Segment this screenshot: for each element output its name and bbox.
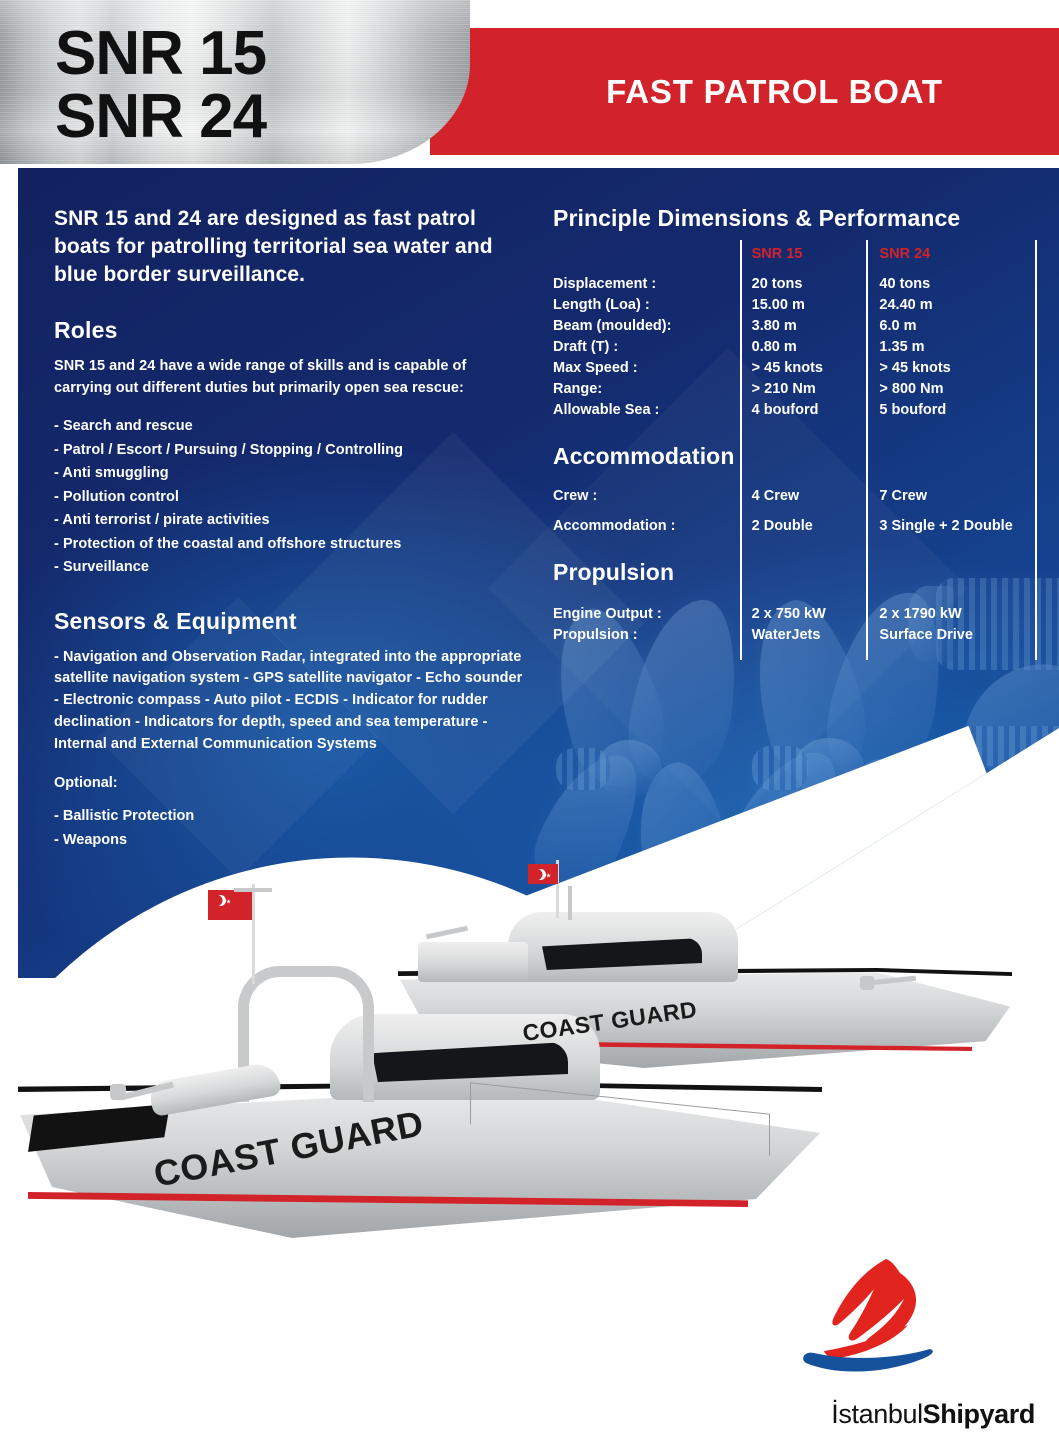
row-value-snr15: > 210 Nm bbox=[743, 379, 871, 400]
row-label: Propulsion : bbox=[553, 625, 743, 646]
shipyard-logo-mark bbox=[800, 1255, 950, 1380]
roles-heading: Roles bbox=[54, 317, 524, 344]
model-title-line1: SNR 15 bbox=[55, 22, 266, 85]
row-value-snr15: 15.00 m bbox=[743, 295, 871, 316]
model-titles: SNR 15 SNR 24 bbox=[55, 22, 266, 148]
table-row: Accommodation : 2 Double 3 Single + 2 Do… bbox=[553, 507, 1053, 537]
row-value-snr24: Surface Drive bbox=[870, 625, 1053, 646]
table-row: Range: > 210 Nm > 800 Nm bbox=[553, 379, 1053, 400]
table-row: Crew : 4 Crew 7 Crew bbox=[553, 486, 1053, 507]
company-logo: İstanbulShipyard bbox=[735, 1255, 1035, 1430]
list-item: - Patrol / Escort / Pursuing / Stopping … bbox=[54, 439, 524, 462]
list-item: - Search and rescue bbox=[54, 415, 524, 438]
propulsion-table: Engine Output : 2 x 750 kW 2 x 1790 kW P… bbox=[553, 604, 1053, 646]
row-value-snr15: > 45 knots bbox=[743, 358, 871, 379]
row-value-snr24: 5 bouford bbox=[870, 400, 1053, 421]
row-value-snr15: 0.80 m bbox=[743, 337, 871, 358]
table-row: Allowable Sea : 4 bouford 5 bouford bbox=[553, 400, 1053, 421]
page-header: FAST PATROL BOAT SNR 15 SNR 24 bbox=[0, 0, 1059, 168]
row-value-snr24: 2 x 1790 kW bbox=[870, 604, 1053, 625]
dimensions-heading: Principle Dimensions & Performance bbox=[553, 205, 1053, 232]
dimensions-table: SNR 15 SNR 24 Displacement : 20 tons 40 … bbox=[553, 232, 1053, 421]
row-value-snr24: 24.40 m bbox=[870, 295, 1053, 316]
specifications-column: Principle Dimensions & Performance SNR 1… bbox=[553, 205, 1053, 646]
row-label: Max Speed : bbox=[553, 358, 743, 379]
row-label: Crew : bbox=[553, 486, 743, 507]
table-row: Max Speed : > 45 knots > 45 knots bbox=[553, 358, 1053, 379]
accommodation-heading: Accommodation bbox=[553, 443, 1053, 470]
column-header-snr15: SNR 15 bbox=[743, 232, 871, 265]
table-row: Displacement : 20 tons 40 tons bbox=[553, 265, 1053, 295]
roles-intro: SNR 15 and 24 have a wide range of skill… bbox=[54, 356, 524, 400]
table-row: Length (Loa) : 15.00 m 24.40 m bbox=[553, 295, 1053, 316]
front-gun-mount bbox=[110, 1084, 126, 1100]
intro-paragraph: SNR 15 and 24 are designed as fast patro… bbox=[54, 205, 524, 289]
row-value-snr24: 3 Single + 2 Double bbox=[870, 507, 1053, 537]
front-mast-crossbeam bbox=[234, 888, 272, 892]
logo-wordmark: İstanbulShipyard bbox=[735, 1399, 1035, 1430]
model-title-line2: SNR 24 bbox=[55, 85, 266, 148]
sensors-body: - Navigation and Observation Radar, inte… bbox=[54, 647, 524, 756]
list-item: - Surveillance bbox=[54, 556, 524, 579]
logo-blue-wave bbox=[803, 1349, 933, 1372]
optional-label: Optional: bbox=[54, 775, 524, 791]
row-value-snr24: 40 tons bbox=[870, 265, 1053, 295]
roles-list: - Search and rescue - Patrol / Escort / … bbox=[54, 415, 524, 579]
row-label: Accommodation : bbox=[553, 507, 743, 537]
row-value-snr15: 4 bouford bbox=[743, 400, 871, 421]
list-item: - Anti smuggling bbox=[54, 462, 524, 485]
table-row: Beam (moulded): 3.80 m 6.0 m bbox=[553, 316, 1053, 337]
list-item: - Anti terrorist / pirate activities bbox=[54, 509, 524, 532]
table-row: Engine Output : 2 x 750 kW 2 x 1790 kW bbox=[553, 604, 1053, 625]
column-header-snr24: SNR 24 bbox=[870, 232, 1053, 265]
row-value-snr24: > 45 knots bbox=[870, 358, 1053, 379]
table-header-blank bbox=[553, 232, 743, 265]
banner-red-bar: FAST PATROL BOAT bbox=[430, 28, 1059, 155]
row-label: Range: bbox=[553, 379, 743, 400]
row-value-snr24: > 800 Nm bbox=[870, 379, 1053, 400]
front-flag-pole bbox=[252, 884, 255, 984]
row-label: Beam (moulded): bbox=[553, 316, 743, 337]
row-value-snr15: 3.80 m bbox=[743, 316, 871, 337]
list-item: - Ballistic Protection bbox=[54, 805, 524, 828]
list-item: - Pollution control bbox=[54, 486, 524, 509]
row-label: Displacement : bbox=[553, 265, 743, 295]
table-row: Propulsion : WaterJets Surface Drive bbox=[553, 625, 1053, 646]
row-value-snr15: 4 Crew bbox=[743, 486, 871, 507]
propulsion-heading: Propulsion bbox=[553, 559, 1053, 586]
boat-front: COAST GUARD bbox=[0, 980, 860, 1300]
row-label: Engine Output : bbox=[553, 604, 743, 625]
row-value-snr15: WaterJets bbox=[743, 625, 871, 646]
front-turkish-flag bbox=[208, 890, 252, 920]
row-label: Draft (T) : bbox=[553, 337, 743, 358]
row-label: Length (Loa) : bbox=[553, 295, 743, 316]
metal-title-plate: SNR 15 SNR 24 bbox=[0, 0, 470, 164]
list-item: - Protection of the coastal and offshore… bbox=[54, 533, 524, 556]
row-value-snr24: 6.0 m bbox=[870, 316, 1053, 337]
banner-title: FAST PATROL BOAT bbox=[430, 28, 1059, 155]
sensors-heading: Sensors & Equipment bbox=[54, 608, 524, 635]
rear-turkish-flag bbox=[528, 864, 558, 884]
logo-name-bold: Shipyard bbox=[923, 1399, 1035, 1429]
row-value-snr24: 7 Crew bbox=[870, 486, 1053, 507]
left-description-column: SNR 15 and 24 are designed as fast patro… bbox=[54, 205, 524, 852]
accommodation-table: Crew : 4 Crew 7 Crew Accommodation : 2 D… bbox=[553, 486, 1053, 537]
rear-aft-gun bbox=[426, 926, 468, 940]
rear-mast bbox=[568, 886, 572, 920]
row-label: Allowable Sea : bbox=[553, 400, 743, 421]
rear-aft-deck bbox=[418, 942, 528, 982]
row-value-snr15: 20 tons bbox=[743, 265, 871, 295]
rear-gun-mount bbox=[860, 976, 874, 990]
table-row: Draft (T) : 0.80 m 1.35 m bbox=[553, 337, 1053, 358]
row-value-snr15: 2 Double bbox=[743, 507, 871, 537]
logo-name-thin: İstanbul bbox=[831, 1399, 922, 1429]
boat-illustrations: COAST GUARD COAST GUARD bbox=[0, 830, 1059, 1300]
row-value-snr24: 1.35 m bbox=[870, 337, 1053, 358]
row-value-snr15: 2 x 750 kW bbox=[743, 604, 871, 625]
table-header-row: SNR 15 SNR 24 bbox=[553, 232, 1053, 265]
logo-sail-shape bbox=[832, 1259, 916, 1347]
